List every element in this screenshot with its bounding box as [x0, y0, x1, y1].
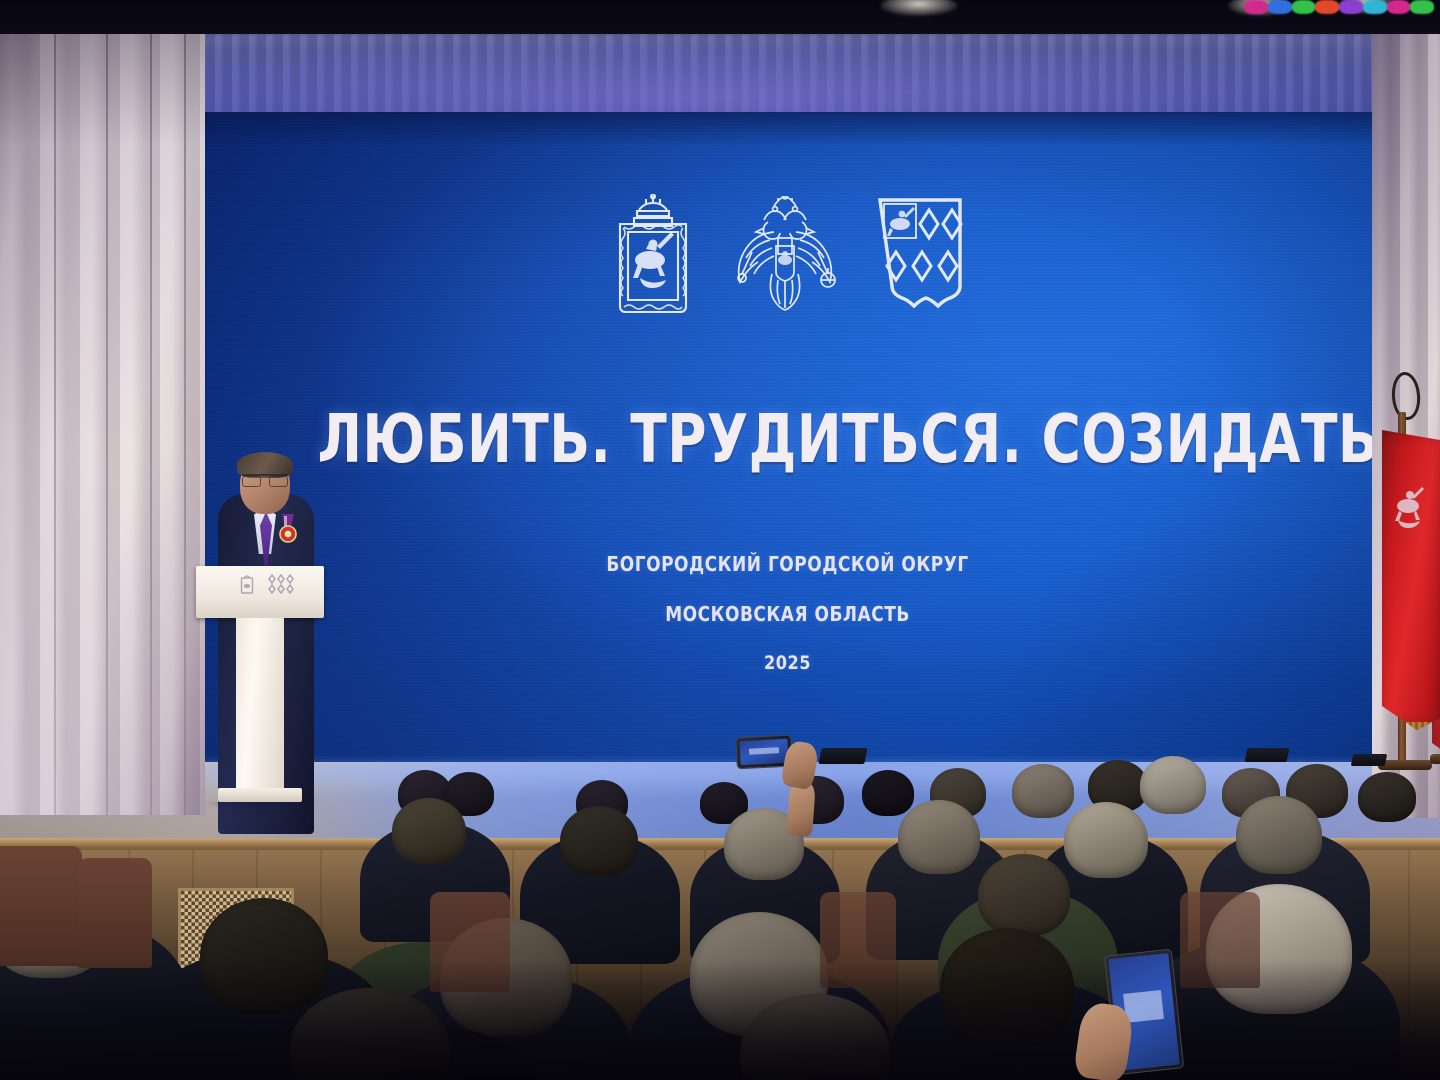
theater-seat [820, 892, 896, 988]
podium-emblem-row [240, 574, 294, 594]
stage-curtain-left [0, 0, 205, 815]
audience-head [940, 928, 1074, 1048]
moscow-oblast-coat-of-arms-icon [610, 194, 696, 316]
slide-subtitle-block: БОГОРОДСКИЙ ГОРОДСКОЙ ОКРУГ МОСКОВСКАЯ О… [200, 552, 1375, 674]
podium-bogorodsky-lozenges-icon [268, 574, 294, 594]
audience-head [1140, 756, 1206, 814]
slide-subtitle-district: БОГОРОДСКИЙ ГОРОДСКОЙ ОКРУГ [288, 552, 1287, 576]
audience-head [978, 854, 1070, 936]
podium-moscow-oblast-emblem-icon [240, 574, 254, 594]
flag-finial-icon [1390, 371, 1421, 421]
russian-federation-coat-of-arms-icon [730, 196, 840, 316]
audience-head [1358, 772, 1416, 822]
audience-forearm [786, 781, 816, 837]
ceiling-band [0, 0, 1440, 34]
eyeglasses-icon [242, 474, 288, 485]
slide-headline: ЛЮБИТЬ. ТРУДИТЬСЯ. СОЗИДАТЬ. [318, 400, 1258, 478]
audience-head [862, 770, 914, 816]
audience-head [1012, 764, 1074, 818]
award-ribbon-medal-icon [278, 514, 298, 548]
audience-seating [0, 742, 1440, 1080]
slide-year: 2025 [288, 652, 1287, 674]
theater-seat [0, 846, 82, 966]
smartphone-camera-center [735, 735, 790, 768]
theater-seat [430, 892, 510, 992]
audience-head [560, 806, 638, 876]
theater-seat [78, 858, 152, 968]
podium-lectern [196, 566, 324, 618]
audience-head [898, 800, 980, 874]
moscow-oblast-flag [1382, 430, 1440, 730]
rgb-light-bar-icon [1244, 0, 1434, 14]
led-presentation-screen: ЛЮБИТЬ. ТРУДИТЬСЯ. СОЗИДАТЬ. БОГОРОДСКИЙ… [200, 112, 1375, 762]
bogorodsky-district-coat-of-arms-icon [874, 194, 966, 316]
audience-head [200, 898, 328, 1014]
audience-head [1064, 802, 1148, 878]
flag-group [1386, 368, 1440, 788]
theater-seat [1180, 892, 1260, 988]
slide-emblem-row [200, 194, 1375, 316]
auditorium-photo: ЛЮБИТЬ. ТРУДИТЬСЯ. СОЗИДАТЬ. БОГОРОДСКИЙ… [0, 0, 1440, 1080]
slide-subtitle-region: МОСКОВСКАЯ ОБЛАСТЬ [288, 602, 1287, 626]
audience-head [392, 798, 466, 864]
audience-head [1236, 796, 1322, 874]
st-george-rider-icon [1392, 482, 1426, 528]
